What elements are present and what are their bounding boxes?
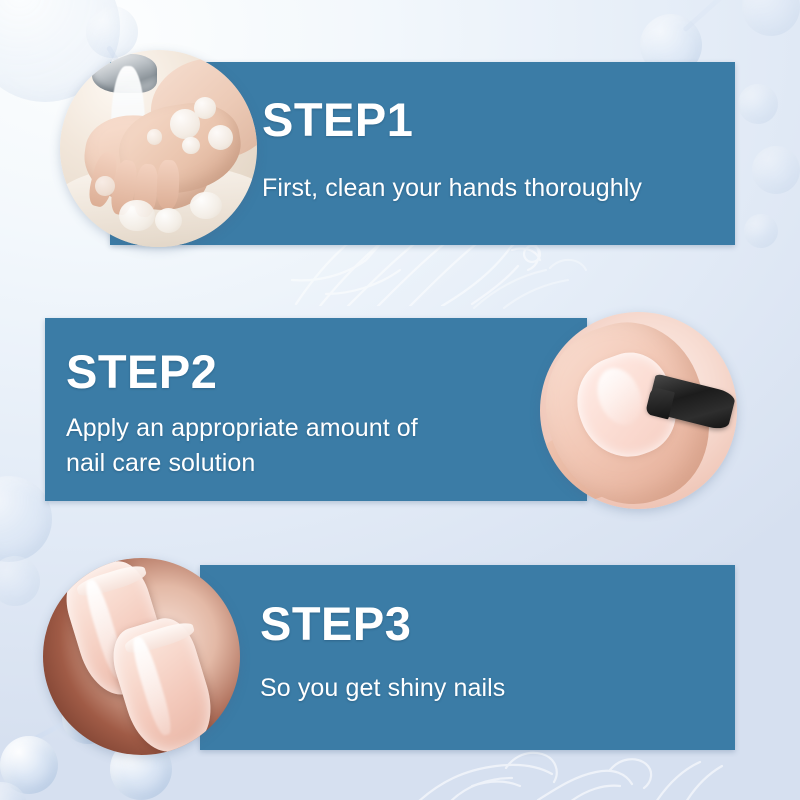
molecule-bubble-decoration <box>744 214 778 248</box>
step-1-title: STEP1 <box>262 96 413 143</box>
hands-washing-with-soap-photo <box>60 50 257 247</box>
step-3-banner <box>200 565 735 750</box>
molecule-bubble-decoration <box>742 0 800 36</box>
faint-hand-outline-decoration <box>286 236 586 306</box>
step-2-photo <box>540 312 737 509</box>
step-2-title: STEP2 <box>66 348 217 395</box>
step-3-description: So you get shiny nails <box>260 672 505 704</box>
shiny-finished-nails-photo <box>43 558 240 755</box>
applying-nail-solution-with-brush-photo <box>540 312 737 509</box>
molecule-bond-decoration <box>682 0 737 32</box>
faint-hand-outline-decoration <box>410 744 750 800</box>
faint-hand-outline-decoration <box>470 252 670 310</box>
step-3-title: STEP3 <box>260 600 411 647</box>
step-1-photo <box>60 50 257 247</box>
step-2-description-line-1: Apply an appropriate amount of <box>66 412 418 444</box>
molecule-bubble-decoration <box>738 84 778 124</box>
molecule-bubble-decoration <box>0 556 40 606</box>
step-1-description: First, clean your hands thoroughly <box>262 172 642 204</box>
poster-canvas: STEP1 First, clean your hands thoroughly… <box>0 0 800 800</box>
step-3-photo <box>43 558 240 755</box>
molecule-bubble-decoration <box>752 146 800 194</box>
step-2-description-line-2: nail care solution <box>66 447 255 479</box>
